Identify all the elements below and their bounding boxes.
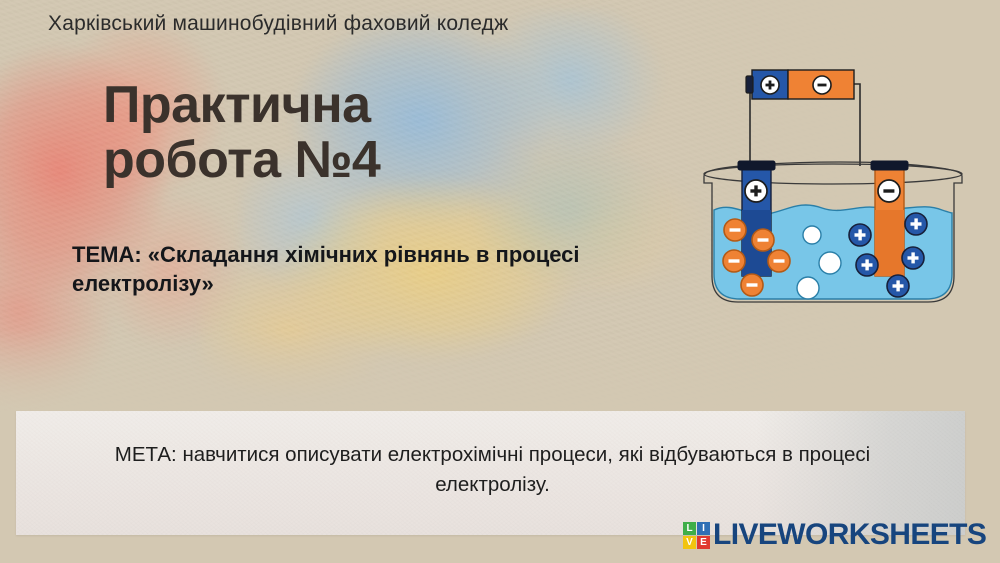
page-title: Практична робота №4 — [103, 78, 380, 188]
liveworksheets-tiles: L I V E — [683, 522, 710, 549]
goal-text: МЕТА: навчитися описувати електрохімічні… — [70, 440, 915, 499]
logo-wordmark: LIVEWORKSHEETS — [713, 518, 986, 552]
logo-tile-e: E — [697, 536, 710, 549]
electrolysis-illustration — [690, 58, 990, 328]
institution-name: Харківський машинобудівний фаховий колед… — [48, 12, 508, 36]
liveworksheets-logo: L I V E LIVEWORKSHEETS — [683, 518, 986, 552]
goal-panel: МЕТА: навчитися описувати електрохімічні… — [16, 411, 965, 535]
battery-icon — [746, 70, 854, 99]
logo-tile-l: L — [683, 522, 696, 535]
logo-tile-v: V — [683, 536, 696, 549]
slide-canvas: Харківський машинобудівний фаховий колед… — [0, 0, 1000, 563]
topic-heading: ТЕМА: «Складання хімічних рівнянь в проц… — [72, 240, 672, 299]
logo-tile-i: I — [697, 522, 710, 535]
